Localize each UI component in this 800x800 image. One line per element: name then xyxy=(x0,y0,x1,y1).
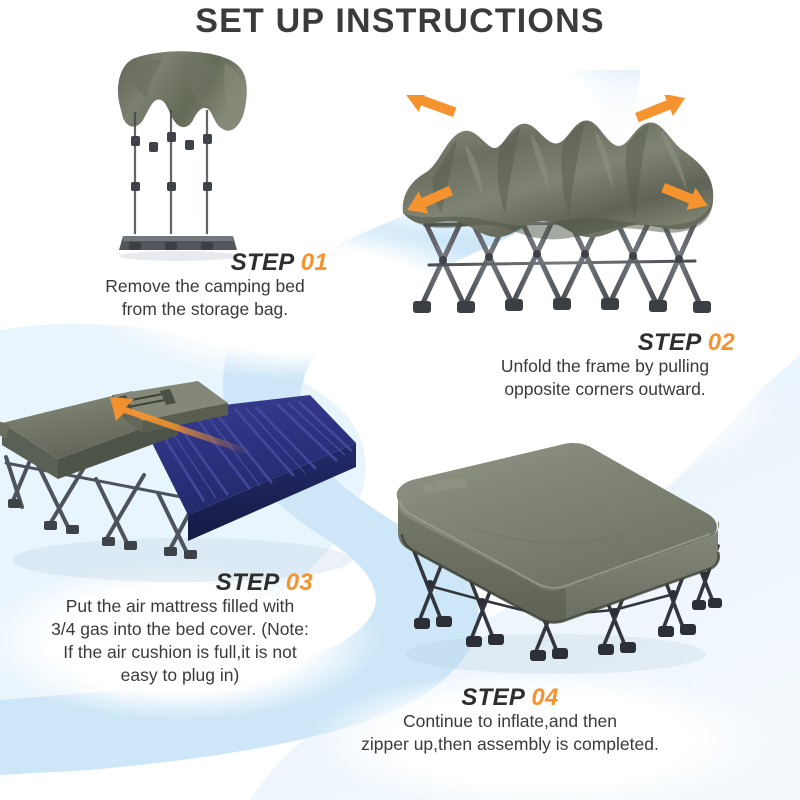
illustration-step-03 xyxy=(0,355,362,585)
arrow-top-left xyxy=(402,95,459,124)
step-description-02: Unfold the frame by pulling opposite cor… xyxy=(455,355,755,401)
step-label-04: STEP xyxy=(461,684,524,711)
setup-instructions-infographic: SET UP INSTRUCTIONS xyxy=(0,0,800,800)
step-number-04: 04 xyxy=(531,684,558,711)
step-description-03: Put the air mattress filled with 3/4 gas… xyxy=(15,595,345,687)
step-number-01: 01 xyxy=(301,249,328,276)
step-heading-02: STEP 02 xyxy=(455,330,755,355)
step-number-02: 02 xyxy=(708,329,735,356)
illustration-step-02 xyxy=(395,95,725,325)
step-block-04: STEP 04 Continue to inflate,and then zip… xyxy=(330,685,690,756)
illustration-step-04 xyxy=(378,438,733,678)
step-block-01: STEP 01 Remove the camping bed from the … xyxy=(60,250,350,321)
step-description-04: Continue to inflate,and then zipper up,t… xyxy=(310,710,710,756)
step-label-03: STEP xyxy=(216,569,279,596)
step-block-02: STEP 02 Unfold the frame by pulling oppo… xyxy=(455,330,755,401)
page-title: SET UP INSTRUCTIONS xyxy=(0,2,800,41)
illustration-step-01 xyxy=(105,50,255,265)
step-description-01: Remove the camping bed from the storage … xyxy=(60,275,350,321)
step-heading-03: STEP 03 xyxy=(15,570,345,595)
step-block-03: STEP 03 Put the air mattress filled with… xyxy=(15,570,345,688)
step-heading-04: STEP 04 xyxy=(330,685,690,710)
step-label-02: STEP xyxy=(638,329,701,356)
arrow-top-right xyxy=(632,95,689,129)
step-number-03: 03 xyxy=(286,569,313,596)
step-heading-01: STEP 01 xyxy=(60,250,350,275)
step-label-01: STEP xyxy=(231,249,294,276)
